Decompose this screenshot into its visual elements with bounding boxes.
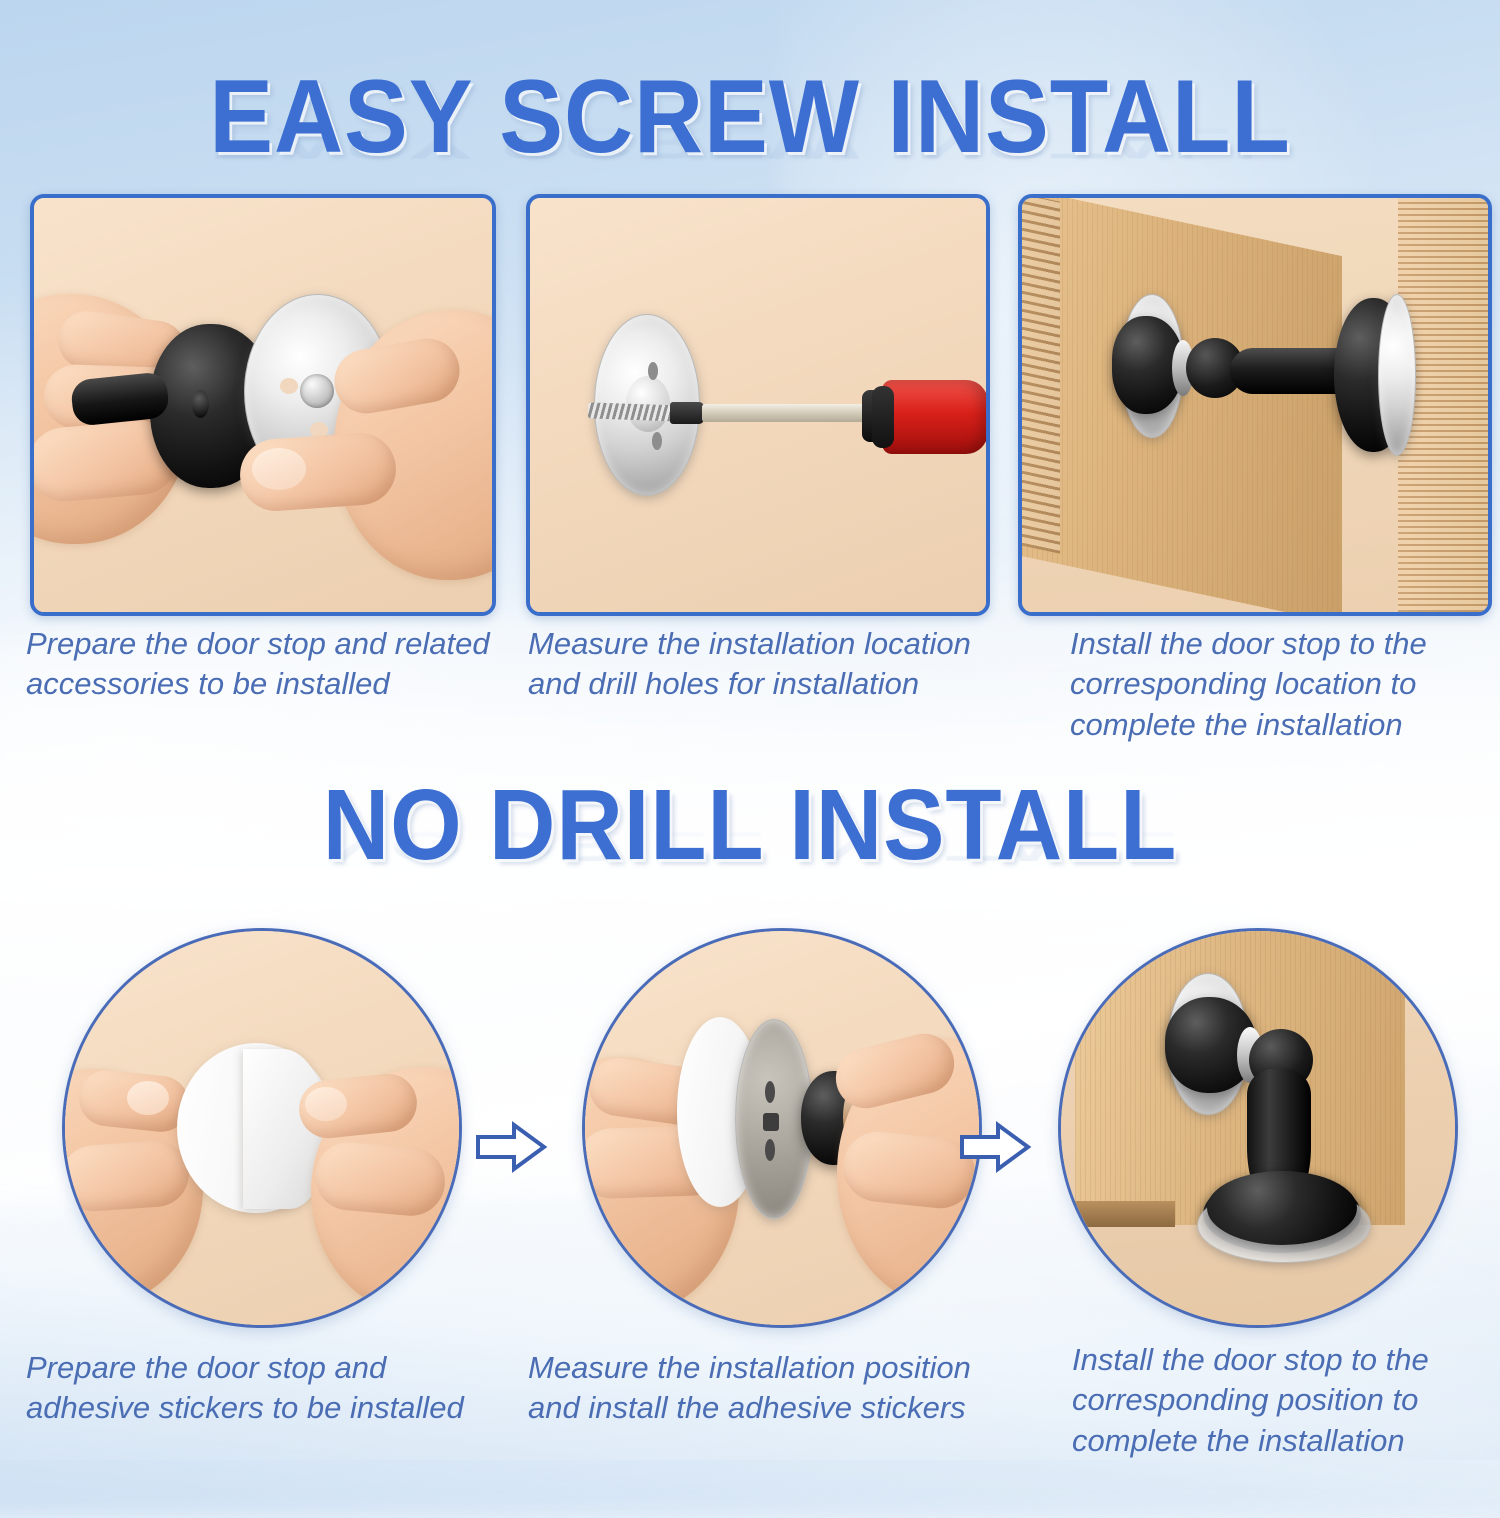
caption-screw-installed: Install the door stop to the correspondi…: [1070, 624, 1490, 745]
plate-hole-bottom: [765, 1139, 775, 1161]
screwdriver-handle-grip: [872, 386, 894, 448]
right-thumb-nail: [252, 448, 306, 490]
caption-nodrill-measure: Measure the installation position and in…: [528, 1348, 998, 1429]
screwdriver-shaft: [702, 404, 872, 422]
mounting-plate-pad-top: [280, 378, 298, 394]
screwdriver-handle-red: [882, 380, 988, 454]
photo-panel-nodrill-prepare: [62, 928, 462, 1328]
caption-screw-drill: Measure the installation location and dr…: [528, 624, 998, 705]
arrow-right-icon: [958, 1120, 1032, 1174]
photo-panel-nodrill-installed: [1058, 928, 1458, 1328]
photo-panel-screw-prepare: [30, 194, 496, 616]
left-thumb: [62, 1139, 191, 1214]
screw-thread: [588, 402, 683, 421]
arrow-right-icon: [474, 1120, 548, 1174]
door-stop-screw-hole: [192, 390, 209, 418]
door-stop-floor-cap: [1207, 1171, 1357, 1245]
plate-slot-center: [763, 1113, 779, 1131]
left-finger-nail: [127, 1081, 169, 1115]
caption-nodrill-prepare: Prepare the door stop and adhesive stick…: [26, 1348, 496, 1429]
plate-hole-top: [765, 1081, 775, 1103]
heading-screw-install: EASY SCREW INSTALL: [60, 58, 1440, 177]
mounting-plate-center-screw: [300, 374, 334, 408]
caption-screw-prepare: Prepare the door stop and related access…: [26, 624, 516, 705]
wooden-door-panel: [1018, 194, 1342, 616]
photo-panel-nodrill-measure: [582, 928, 982, 1328]
screwdriver-tip: [670, 402, 704, 424]
door-ribbed-edge: [1018, 194, 1060, 554]
door-bottom-edge: [1075, 1201, 1175, 1227]
mounting-plate-hole-bottom: [652, 432, 662, 450]
right-finger-nail: [305, 1087, 347, 1121]
mounting-plate-hole-top: [648, 362, 658, 380]
photo-panel-screw-drill: [526, 194, 990, 616]
wall-mount-plate: [1378, 294, 1416, 456]
photo-panel-screw-installed: [1018, 194, 1492, 616]
heading-no-drill-install: NO DRILL INSTALL: [60, 768, 1440, 883]
caption-nodrill-installed: Install the door stop to the correspondi…: [1072, 1340, 1492, 1461]
